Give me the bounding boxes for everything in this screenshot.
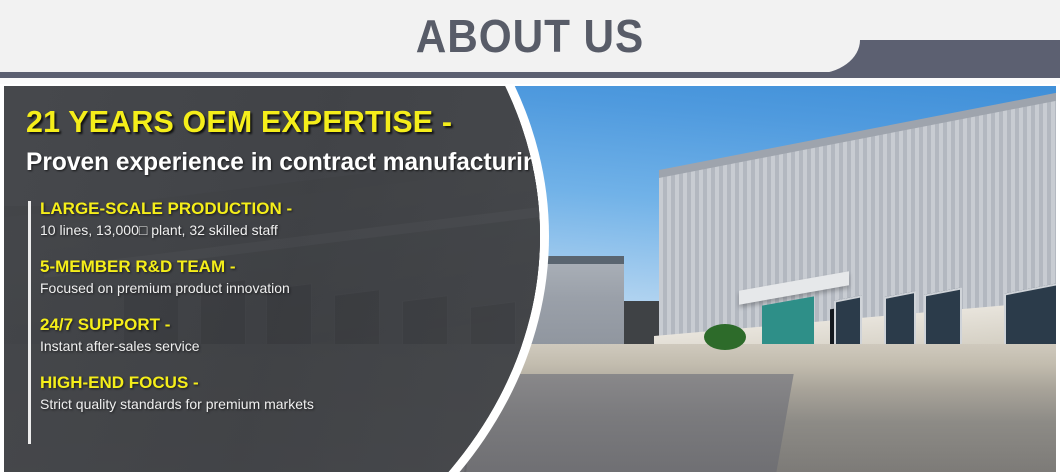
info-panel: 21 YEARS OEM EXPERTISE - Proven experien… <box>4 86 644 472</box>
feature-desc: Strict quality standards for premium mar… <box>40 394 510 414</box>
feature-desc: 10 lines, 13,000□ plant, 32 skilled staf… <box>40 220 510 240</box>
list-item: 5-MEMBER R&D TEAM - Focused on premium p… <box>40 256 510 298</box>
info-panel-content: 21 YEARS OEM EXPERTISE - Proven experien… <box>4 86 644 472</box>
feature-title: 5-MEMBER R&D TEAM - <box>40 256 510 278</box>
panel-inner: 21 YEARS OEM EXPERTISE - Proven experien… <box>4 86 1056 472</box>
photo-bush-3 <box>704 324 746 350</box>
list-item: LARGE-SCALE PRODUCTION - 10 lines, 13,00… <box>40 198 510 240</box>
feature-accent-line <box>28 201 31 444</box>
header-tab-shape <box>860 40 1060 74</box>
list-item: HIGH-END FOCUS - Strict quality standard… <box>40 372 510 414</box>
about-us-banner: ABOUT US <box>0 0 1060 476</box>
banner-header: ABOUT US <box>0 0 1060 84</box>
feature-title: LARGE-SCALE PRODUCTION - <box>40 198 510 220</box>
main-panel: 21 YEARS OEM EXPERTISE - Proven experien… <box>0 84 1060 476</box>
list-item: 24/7 SUPPORT - Instant after-sales servi… <box>40 314 510 356</box>
feature-desc: Instant after-sales service <box>40 336 510 356</box>
feature-title: 24/7 SUPPORT - <box>40 314 510 336</box>
feature-title: HIGH-END FOCUS - <box>40 372 510 394</box>
info-panel-wrap: 21 YEARS OEM EXPERTISE - Proven experien… <box>4 86 644 472</box>
headline: 21 YEARS OEM EXPERTISE - <box>26 104 452 140</box>
feature-list: LARGE-SCALE PRODUCTION - 10 lines, 13,00… <box>40 198 510 428</box>
feature-desc: Focused on premium product innovation <box>40 278 510 298</box>
subheadline: Proven experience in contract manufactur… <box>26 148 553 177</box>
